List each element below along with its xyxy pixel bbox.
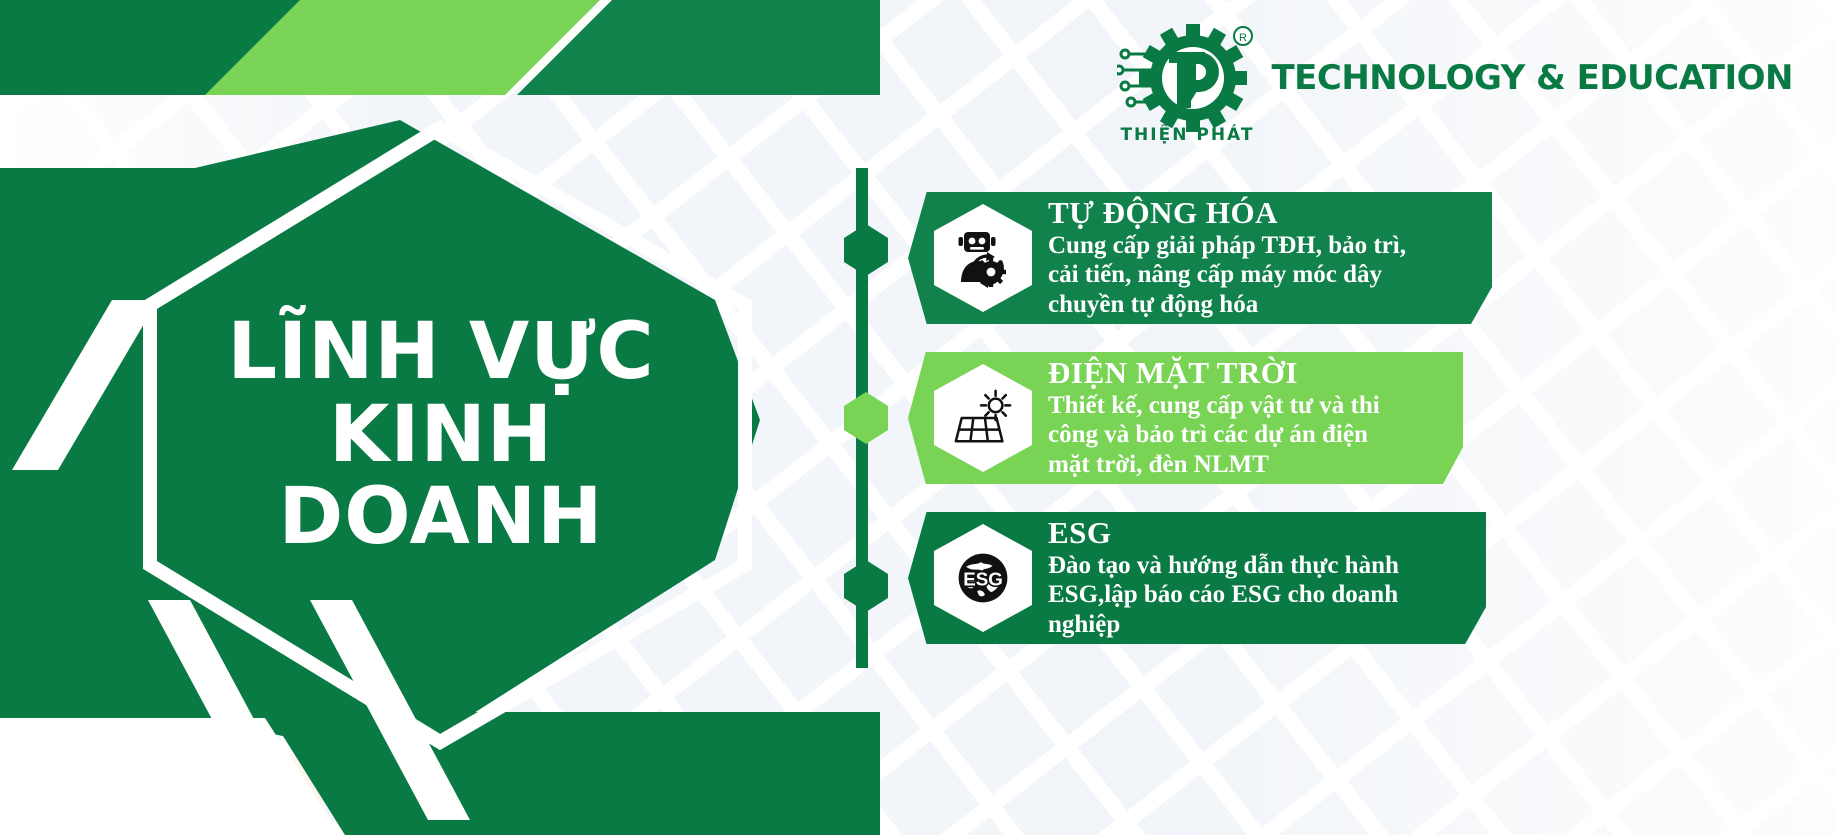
card-tu-dong-hoa-desc-line-2: cải tiến, nâng cấp máy móc dây: [1048, 260, 1406, 290]
logo-company-name: THIỆN PHÁT: [1117, 125, 1257, 145]
card-dien-mat-troi-desc-line-3: mặt trời, đèn NLMT: [1048, 450, 1380, 480]
card-esg-title: ESG: [1048, 516, 1399, 551]
card-dien-mat-troi-title: ĐIỆN MẶT TRỜI: [1048, 356, 1380, 391]
card-tu-dong-hoa-desc-line-1: Cung cấp giải pháp TĐH, bảo trì,: [1048, 231, 1406, 261]
timeline-node-2-diamond: [844, 392, 888, 444]
registered-mark-icon: R: [1234, 27, 1252, 45]
esg-globe-icon: ESG: [953, 548, 1013, 608]
brand-logo[interactable]: R THIỆN PHÁT TECHNOLOGY & EDUCATION: [1117, 18, 1793, 143]
timeline-node-2: [844, 392, 888, 444]
timeline-node-1-diamond: [844, 224, 888, 276]
card-dien-mat-troi[interactable]: ĐIỆN MẶT TRỜI Thiết kế, cung cấp vật tư …: [908, 352, 1463, 484]
timeline-node-1: [844, 224, 888, 276]
card-esg-desc-line-1: Đào tạo và hướng dẫn thực hành: [1048, 551, 1399, 581]
card-tu-dong-hoa-title: TỰ ĐỘNG HÓA: [1048, 196, 1406, 231]
left-decorative-panel: [0, 0, 880, 835]
esg-globe-icon-label: ESG: [963, 569, 1003, 590]
card-tu-dong-hoa-text: TỰ ĐỘNG HÓA Cung cấp giải pháp TĐH, bảo …: [1048, 196, 1446, 320]
timeline-node-3: [844, 560, 888, 612]
timeline: [848, 168, 884, 668]
logo-mark: R THIỆN PHÁT: [1117, 18, 1257, 143]
card-esg-text: ESG Đào tạo và hướng dẫn thực hành ESG,l…: [1048, 516, 1439, 640]
card-esg[interactable]: ESG ESG Đào tạo và hướng dẫn thực hành E…: [908, 512, 1486, 644]
logo-tagline: TECHNOLOGY & EDUCATION: [1271, 58, 1793, 98]
card-tu-dong-hoa-desc-line-3: chuyền tự động hóa: [1048, 290, 1406, 320]
card-dien-mat-troi-desc-line-1: Thiết kế, cung cấp vật tư và thi: [1048, 391, 1380, 421]
timeline-node-3-diamond: [844, 560, 888, 612]
card-dien-mat-troi-text: ĐIỆN MẶT TRỜI Thiết kế, cung cấp vật tư …: [1048, 356, 1420, 480]
card-tu-dong-hoa[interactable]: TỰ ĐỘNG HÓA Cung cấp giải pháp TĐH, bảo …: [908, 192, 1492, 324]
svg-text:R: R: [1239, 32, 1247, 44]
robot-gear-icon: [951, 226, 1015, 290]
solar-panel-icon: [952, 387, 1014, 449]
block-lower-green: [268, 712, 880, 835]
card-dien-mat-troi-desc-line-2: công và bảo trì các dự án điện: [1048, 420, 1380, 450]
card-esg-desc-line-3: nghiệp: [1048, 610, 1399, 640]
gear-icon: [1139, 24, 1247, 132]
card-esg-desc-line-2: ESG,lập báo cáo ESG cho doanh: [1048, 580, 1399, 610]
infographic-canvas: LĨNH VỰC KINH DOANH: [0, 0, 1835, 835]
